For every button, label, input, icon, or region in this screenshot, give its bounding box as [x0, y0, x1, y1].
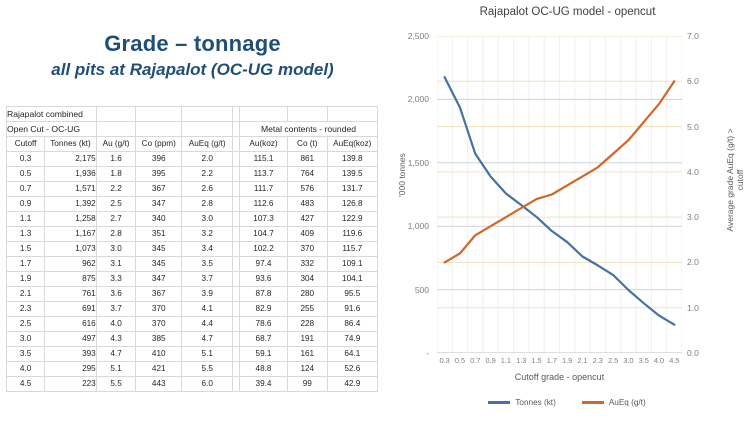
table-cell-r6-c2: 3.0	[96, 242, 136, 257]
grade-tonnage-table-wrap: Rajapalot combinedOpen Cut - OC-UGMetal …	[6, 106, 378, 392]
table-cell-r10-c2: 3.7	[96, 302, 136, 317]
table-band-row: Open Cut - OC-UGMetal contents - rounded	[7, 122, 378, 137]
table-cell-r15-c5: 39.4	[240, 377, 288, 392]
table-cell-r6-c7: 115.7	[327, 242, 377, 257]
y-axis-right-tick: 3.0	[687, 212, 727, 222]
y-axis-left-tick: 500	[389, 285, 429, 295]
table-cell-r14-c5: 48.8	[240, 362, 288, 377]
table-row: 2.17613.63673.987.828095.5	[7, 287, 378, 302]
table-row: 1.98753.33473.793.6304104.1	[7, 272, 378, 287]
table-cell-r9-c7: 95.5	[327, 287, 377, 302]
table-cell-r14-c2: 5.1	[96, 362, 136, 377]
table-cell-r11-c2: 4.0	[96, 317, 136, 332]
x-axis-tick: 3.0	[621, 356, 636, 368]
table-cell-r4-c6: 427	[287, 212, 327, 227]
table-cell-r10-c1: 691	[45, 302, 97, 317]
table-cell-r0-c4: 2.0	[182, 152, 233, 167]
y-axis-right-tick: 5.0	[687, 122, 727, 132]
x-axis-tick: 2.1	[575, 356, 590, 368]
table-metal-group-header: Metal contents - rounded	[240, 122, 378, 137]
table-cell-r15-c4: 6.0	[182, 377, 233, 392]
table-band-row: Rajapalot combined	[7, 107, 378, 122]
table-cell-r6-c6: 370	[287, 242, 327, 257]
table-row: 0.91,3922.53472.8112.6483126.8	[7, 197, 378, 212]
table-column-spacer	[233, 302, 240, 317]
table-cell-r3-c7: 126.8	[327, 197, 377, 212]
table-cell-r1-c3: 395	[136, 167, 182, 182]
legend-item[interactable]: Tonnes (kt)	[488, 398, 556, 407]
table-col-header-2: Au (g/t)	[96, 137, 136, 152]
table-cell-r1-c5: 113.7	[240, 167, 288, 182]
table-col-header-7: AuEq(koz)	[327, 137, 377, 152]
table-cell-r13-c1: 393	[45, 347, 97, 362]
table-band-blank-2	[182, 107, 233, 122]
table-cell-r12-c4: 4.7	[182, 332, 233, 347]
y-axis-left-tick: 1,500	[389, 158, 429, 168]
slide-root: Grade – tonnage all pits at Rajapalot (O…	[0, 0, 750, 427]
y-axis-right-tick: 7.0	[687, 31, 727, 41]
table-cell-r7-c5: 97.4	[240, 257, 288, 272]
table-cell-r9-c2: 3.6	[96, 287, 136, 302]
x-axis-tick: 2.5	[605, 356, 620, 368]
table-cell-r15-c2: 5.5	[96, 377, 136, 392]
table-cell-r15-c7: 42.9	[327, 377, 377, 392]
table-band-blank-r0	[240, 107, 288, 122]
table-cell-r6-c0: 1.5	[7, 242, 45, 257]
table-cell-r6-c4: 3.4	[182, 242, 233, 257]
table-cell-r0-c1: 2,175	[45, 152, 97, 167]
table-cell-r9-c6: 280	[287, 287, 327, 302]
x-axis-tick: 0.3	[437, 356, 452, 368]
table-cell-r0-c6: 861	[287, 152, 327, 167]
table-cell-r3-c6: 483	[287, 197, 327, 212]
table-cell-r2-c7: 131.7	[327, 182, 377, 197]
table-column-spacer	[233, 242, 240, 257]
table-cell-r3-c0: 0.9	[7, 197, 45, 212]
table-col-header-3: Co (ppm)	[136, 137, 182, 152]
table-column-spacer	[233, 257, 240, 272]
x-axis-tick: 4.5	[667, 356, 682, 368]
table-band2-blank-1	[136, 122, 182, 137]
table-row: 0.32,1751.63962.0115.1861139.8	[7, 152, 378, 167]
table-cell-r1-c6: 764	[287, 167, 327, 182]
table-row: 3.53934.74105.159.116164.1	[7, 347, 378, 362]
x-axis-tick: 1.3	[514, 356, 529, 368]
table-cell-r14-c4: 5.5	[182, 362, 233, 377]
table-cell-r11-c6: 228	[287, 317, 327, 332]
table-cell-r9-c1: 761	[45, 287, 97, 302]
y-axis-right-tick: 1.0	[687, 303, 727, 313]
table-row: 2.36913.73704.182.925591.6	[7, 302, 378, 317]
table-cell-r3-c2: 2.5	[96, 197, 136, 212]
table-cell-r12-c1: 497	[45, 332, 97, 347]
table-band2-blank-0	[96, 122, 136, 137]
table-cell-r2-c5: 111.7	[240, 182, 288, 197]
table-cell-r14-c0: 4.0	[7, 362, 45, 377]
chart-title: Rajapalot OC-UG model - opencut	[385, 6, 750, 18]
table-cell-r2-c2: 2.2	[96, 182, 136, 197]
table-cell-r4-c2: 2.7	[96, 212, 136, 227]
table-row: 1.51,0733.03453.4102.2370115.7	[7, 242, 378, 257]
table-row: 1.31,1672.83513.2104.7409119.6	[7, 227, 378, 242]
table-cell-r7-c1: 962	[45, 257, 97, 272]
legend-label: Tonnes (kt)	[515, 398, 556, 407]
table-column-spacer	[233, 152, 240, 167]
x-axis-tick: 2.3	[590, 356, 605, 368]
table-column-spacer	[233, 377, 240, 392]
table-cell-r0-c2: 1.6	[96, 152, 136, 167]
table-cell-r9-c5: 87.8	[240, 287, 288, 302]
table-cell-r4-c7: 122.9	[327, 212, 377, 227]
table-cell-r13-c6: 161	[287, 347, 327, 362]
table-column-spacer	[233, 137, 240, 152]
table-cell-r10-c0: 2.3	[7, 302, 45, 317]
x-axis-ticks: 0.30.50.70.91.11.31.51.71.92.12.32.53.03…	[437, 356, 682, 368]
grade-tonnage-table: Rajapalot combinedOpen Cut - OC-UGMetal …	[6, 106, 378, 392]
y-axis-left-tick: 1,000	[389, 221, 429, 231]
table-cell-r8-c3: 347	[136, 272, 182, 287]
table-cell-r4-c3: 340	[136, 212, 182, 227]
table-cell-r14-c6: 124	[287, 362, 327, 377]
table-cell-r13-c7: 64.1	[327, 347, 377, 362]
table-cell-r1-c2: 1.8	[96, 167, 136, 182]
table-cell-r5-c1: 1,167	[45, 227, 97, 242]
table-cell-r14-c3: 421	[136, 362, 182, 377]
table-column-spacer	[233, 182, 240, 197]
legend-item[interactable]: AuEq (g/t)	[582, 398, 646, 407]
table-col-header-5: Au(koz)	[240, 137, 288, 152]
legend-swatch	[582, 401, 604, 404]
table-column-spacer	[233, 167, 240, 182]
table-column-spacer	[233, 197, 240, 212]
table-cell-r10-c6: 255	[287, 302, 327, 317]
table-band-blank-r2	[327, 107, 377, 122]
table-cell-r7-c3: 345	[136, 257, 182, 272]
chart-panel: Rajapalot OC-UG model - opencut -5001,00…	[385, 0, 750, 427]
table-column-spacer	[233, 227, 240, 242]
table-cell-r8-c2: 3.3	[96, 272, 136, 287]
x-axis-tick: 1.9	[560, 356, 575, 368]
table-cell-r13-c2: 4.7	[96, 347, 136, 362]
x-axis-tick: 1.7	[544, 356, 559, 368]
table-cell-r15-c1: 223	[45, 377, 97, 392]
table-cell-r12-c3: 385	[136, 332, 182, 347]
table-band-blank-r1	[287, 107, 327, 122]
table-cell-r3-c3: 347	[136, 197, 182, 212]
table-cell-r2-c3: 367	[136, 182, 182, 197]
table-cell-r4-c0: 1.1	[7, 212, 45, 227]
table-cell-r0-c3: 396	[136, 152, 182, 167]
y-axis-right-tick: 4.0	[687, 167, 727, 177]
table-col-header-6: Co (t)	[287, 137, 327, 152]
y-axis-left-tick: 2,000	[389, 94, 429, 104]
table-cell-r15-c0: 4.5	[7, 377, 45, 392]
table-cell-r9-c0: 2.1	[7, 287, 45, 302]
table-cell-r11-c0: 2.5	[7, 317, 45, 332]
table-column-spacer	[233, 122, 240, 137]
table-cell-r0-c7: 139.8	[327, 152, 377, 167]
table-cell-r15-c6: 99	[287, 377, 327, 392]
table-cell-r2-c6: 576	[287, 182, 327, 197]
table-cell-r13-c3: 410	[136, 347, 182, 362]
table-cell-r5-c5: 104.7	[240, 227, 288, 242]
table-cell-r5-c0: 1.3	[7, 227, 45, 242]
legend-swatch	[488, 401, 510, 404]
table-col-header-0: Cutoff	[7, 137, 45, 152]
table-band-blank-1	[136, 107, 182, 122]
table-col-header-1: Tonnes (kt)	[45, 137, 97, 152]
table-cell-r1-c4: 2.2	[182, 167, 233, 182]
chart-legend: Tonnes (kt)AuEq (g/t)	[437, 398, 697, 407]
table-cell-r8-c7: 104.1	[327, 272, 377, 287]
table-cell-r1-c7: 139.5	[327, 167, 377, 182]
table-cell-r3-c5: 112.6	[240, 197, 288, 212]
table-cell-r1-c0: 0.5	[7, 167, 45, 182]
plot-area	[437, 36, 682, 353]
y-axis-right-tick: 0.0	[687, 348, 727, 358]
y-axis-left-tick: -	[389, 348, 429, 358]
table-cell-r7-c0: 1.7	[7, 257, 45, 272]
x-axis-tick: 1.5	[529, 356, 544, 368]
table-cell-r10-c3: 370	[136, 302, 182, 317]
table-cell-r6-c3: 345	[136, 242, 182, 257]
table-column-spacer	[233, 362, 240, 377]
table-cell-r5-c7: 119.6	[327, 227, 377, 242]
table-band2-blank-2	[182, 122, 233, 137]
table-row: 1.79623.13453.597.4332109.1	[7, 257, 378, 272]
table-cell-r12-c7: 74.9	[327, 332, 377, 347]
table-band-label-1: Rajapalot combined	[7, 107, 97, 122]
table-cell-r7-c7: 109.1	[327, 257, 377, 272]
table-cell-r4-c4: 3.0	[182, 212, 233, 227]
table-cell-r12-c5: 68.7	[240, 332, 288, 347]
table-cell-r14-c7: 52.6	[327, 362, 377, 377]
table-row: 4.02955.14215.548.812452.6	[7, 362, 378, 377]
table-column-spacer	[233, 287, 240, 302]
table-cell-r8-c6: 304	[287, 272, 327, 287]
table-cell-r4-c5: 107.3	[240, 212, 288, 227]
chart-svg	[437, 36, 682, 353]
table-row: 3.04974.33854.768.719174.9	[7, 332, 378, 347]
table-row: 1.11,2582.73403.0107.3427122.9	[7, 212, 378, 227]
table-band-blank-0	[96, 107, 136, 122]
table-cell-r13-c0: 3.5	[7, 347, 45, 362]
table-row: 0.71,5712.23672.6111.7576131.7	[7, 182, 378, 197]
table-cell-r6-c1: 1,073	[45, 242, 97, 257]
table-cell-r11-c4: 4.4	[182, 317, 233, 332]
table-cell-r5-c4: 3.2	[182, 227, 233, 242]
table-cell-r9-c4: 3.9	[182, 287, 233, 302]
table-column-spacer	[233, 347, 240, 362]
table-cell-r11-c7: 86.4	[327, 317, 377, 332]
table-cell-r5-c3: 351	[136, 227, 182, 242]
x-axis-tick: 4.0	[651, 356, 666, 368]
table-column-spacer	[233, 332, 240, 347]
y-axis-left-title: '000 tonnes	[397, 130, 407, 220]
table-cell-r2-c1: 1,571	[45, 182, 97, 197]
table-cell-r8-c1: 875	[45, 272, 97, 287]
x-axis-tick: 0.7	[468, 356, 483, 368]
table-column-spacer	[233, 317, 240, 332]
table-cell-r5-c6: 409	[287, 227, 327, 242]
table-row: 4.52235.54436.039.49942.9	[7, 377, 378, 392]
title-block: Grade – tonnage all pits at Rajapalot (O…	[0, 32, 385, 80]
x-axis-tick: 0.5	[452, 356, 467, 368]
y-axis-left-tick: 2,500	[389, 31, 429, 41]
x-axis-tick: 0.9	[483, 356, 498, 368]
table-cell-r0-c5: 115.1	[240, 152, 288, 167]
table-cell-r7-c2: 3.1	[96, 257, 136, 272]
table-cell-r7-c4: 3.5	[182, 257, 233, 272]
table-cell-r11-c1: 616	[45, 317, 97, 332]
table-cell-r10-c5: 82.9	[240, 302, 288, 317]
table-cell-r2-c0: 0.7	[7, 182, 45, 197]
table-header-row: CutoffTonnes (kt)Au (g/t)Co (ppm)AuEq (g…	[7, 137, 378, 152]
left-panel: Grade – tonnage all pits at Rajapalot (O…	[0, 0, 385, 427]
table-cell-r12-c0: 3.0	[7, 332, 45, 347]
y-axis-right-title: Average grade AuEq (g/t) > cutoff	[725, 120, 745, 240]
table-cell-r0-c0: 0.3	[7, 152, 45, 167]
y-axis-right-tick: 6.0	[687, 76, 727, 86]
table-cell-r11-c5: 78.6	[240, 317, 288, 332]
table-cell-r7-c6: 332	[287, 257, 327, 272]
table-cell-r8-c0: 1.9	[7, 272, 45, 287]
table-cell-r2-c4: 2.6	[182, 182, 233, 197]
table-band-label-2: Open Cut - OC-UG	[7, 122, 97, 137]
page-subtitle: all pits at Rajapalot (OC-UG model)	[0, 59, 385, 80]
table-cell-r8-c5: 93.6	[240, 272, 288, 287]
table-cell-r10-c7: 91.6	[327, 302, 377, 317]
table-cell-r5-c2: 2.8	[96, 227, 136, 242]
table-cell-r6-c5: 102.2	[240, 242, 288, 257]
table-column-spacer	[233, 107, 240, 122]
table-row: 2.56164.03704.478.622886.4	[7, 317, 378, 332]
table-cell-r13-c5: 59.1	[240, 347, 288, 362]
table-cell-r3-c1: 1,392	[45, 197, 97, 212]
table-cell-r1-c1: 1,936	[45, 167, 97, 182]
table-column-spacer	[233, 272, 240, 287]
table-cell-r10-c4: 4.1	[182, 302, 233, 317]
page-title: Grade – tonnage	[0, 32, 385, 57]
table-cell-r11-c3: 370	[136, 317, 182, 332]
x-axis-title: Cutoff grade - opencut	[437, 372, 682, 382]
table-cell-r12-c2: 4.3	[96, 332, 136, 347]
table-cell-r3-c4: 2.8	[182, 197, 233, 212]
table-cell-r9-c3: 367	[136, 287, 182, 302]
table-cell-r15-c3: 443	[136, 377, 182, 392]
x-axis-tick: 1.1	[498, 356, 513, 368]
table-column-spacer	[233, 212, 240, 227]
table-cell-r4-c1: 1,258	[45, 212, 97, 227]
legend-label: AuEq (g/t)	[609, 398, 646, 407]
table-cell-r14-c1: 295	[45, 362, 97, 377]
table-col-header-4: AuEq (g/t)	[182, 137, 233, 152]
table-cell-r8-c4: 3.7	[182, 272, 233, 287]
table-row: 0.51,9361.83952.2113.7764139.5	[7, 167, 378, 182]
table-cell-r12-c6: 191	[287, 332, 327, 347]
table-cell-r13-c4: 5.1	[182, 347, 233, 362]
y-axis-right-tick: 2.0	[687, 257, 727, 267]
x-axis-tick: 3.5	[636, 356, 651, 368]
